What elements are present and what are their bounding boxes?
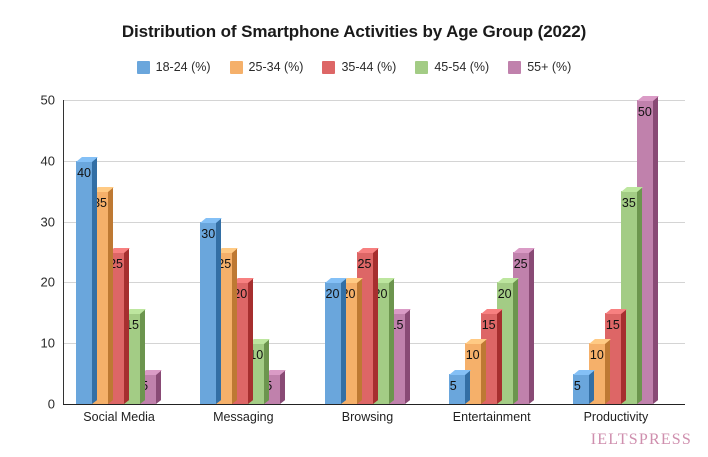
bar-side-face bbox=[653, 96, 658, 404]
bar[interactable]: 5 bbox=[449, 374, 465, 404]
bar-value-label: 25 bbox=[358, 257, 372, 271]
legend-item[interactable]: 55+ (%) bbox=[508, 60, 571, 74]
bar[interactable]: 20 bbox=[325, 282, 341, 404]
x-axis-group-label: Entertainment bbox=[453, 410, 531, 424]
bar-group: 510153550Productivity bbox=[573, 100, 659, 404]
legend-swatch-icon bbox=[137, 61, 150, 74]
bar-side-face bbox=[108, 187, 113, 404]
bar-value-label: 50 bbox=[638, 105, 652, 119]
bar[interactable]: 5 bbox=[573, 374, 589, 404]
legend-swatch-icon bbox=[415, 61, 428, 74]
bar-group: 403525155Social Media bbox=[76, 100, 162, 404]
bar-side-face bbox=[232, 248, 237, 404]
bar-side-face bbox=[481, 339, 486, 404]
legend-item-label: 18-24 (%) bbox=[156, 60, 211, 74]
legend-item[interactable]: 35-44 (%) bbox=[322, 60, 396, 74]
bar[interactable]: 30 bbox=[200, 222, 216, 404]
y-axis-tick-label: 0 bbox=[48, 397, 55, 412]
y-axis-tick-label: 30 bbox=[41, 214, 55, 229]
bar-side-face bbox=[248, 278, 253, 404]
bar-side-face bbox=[465, 370, 470, 404]
bar-side-face bbox=[529, 248, 534, 404]
bar-side-face bbox=[124, 248, 129, 404]
legend-item[interactable]: 45-54 (%) bbox=[415, 60, 489, 74]
x-axis-group-label: Social Media bbox=[83, 410, 155, 424]
bar-side-face bbox=[589, 370, 594, 404]
bar-side-face bbox=[264, 339, 269, 404]
bar-side-face bbox=[156, 370, 161, 404]
bar-side-face bbox=[216, 218, 221, 404]
bar-value-label: 25 bbox=[514, 257, 528, 271]
bar-side-face bbox=[280, 370, 285, 404]
bar-value-label: 15 bbox=[606, 318, 620, 332]
legend-item-label: 25-34 (%) bbox=[249, 60, 304, 74]
bar-chart: Distribution of Smartphone Activities by… bbox=[0, 0, 708, 457]
bar-side-face bbox=[341, 278, 346, 404]
bar-group: 302520105Messaging bbox=[200, 100, 286, 404]
legend-swatch-icon bbox=[230, 61, 243, 74]
legend-item[interactable]: 25-34 (%) bbox=[230, 60, 304, 74]
bar-side-face bbox=[513, 278, 518, 404]
bar-front-face bbox=[200, 222, 216, 404]
bar-side-face bbox=[605, 339, 610, 404]
bar-side-face bbox=[140, 309, 145, 404]
legend-swatch-icon bbox=[322, 61, 335, 74]
plot-area: 01020304050403525155Social Media30252010… bbox=[64, 100, 685, 404]
legend-item-label: 35-44 (%) bbox=[341, 60, 396, 74]
bar[interactable]: 40 bbox=[76, 161, 92, 404]
bar-side-face bbox=[497, 309, 502, 404]
bar-group: 510152025Entertainment bbox=[449, 100, 535, 404]
bar-value-label: 40 bbox=[77, 166, 91, 180]
bar-front-face bbox=[76, 161, 92, 404]
bar-side-face bbox=[357, 278, 362, 404]
bar-value-label: 30 bbox=[201, 227, 215, 241]
bar-side-face bbox=[405, 309, 410, 404]
legend-item-label: 55+ (%) bbox=[527, 60, 571, 74]
chart-title: Distribution of Smartphone Activities by… bbox=[0, 22, 708, 42]
y-axis-tick-label: 20 bbox=[41, 275, 55, 290]
legend-item[interactable]: 18-24 (%) bbox=[137, 60, 211, 74]
y-axis-tick-label: 40 bbox=[41, 153, 55, 168]
y-axis-line bbox=[63, 100, 64, 404]
bar-value-label: 20 bbox=[326, 287, 340, 301]
bar-side-face bbox=[373, 248, 378, 404]
bar-group: 2020252015Browsing bbox=[325, 100, 411, 404]
y-axis-tick-label: 50 bbox=[41, 93, 55, 108]
legend-item-label: 45-54 (%) bbox=[434, 60, 489, 74]
chart-legend: 18-24 (%)25-34 (%)35-44 (%)45-54 (%)55+ … bbox=[0, 60, 708, 74]
bar-value-label: 10 bbox=[590, 348, 604, 362]
watermark: IELTSPRESS bbox=[591, 431, 692, 449]
bar-side-face bbox=[92, 157, 97, 404]
x-axis-group-label: Messaging bbox=[213, 410, 273, 424]
bar-side-face bbox=[637, 187, 642, 404]
x-axis-group-label: Browsing bbox=[342, 410, 393, 424]
bar-side-face bbox=[621, 309, 626, 404]
x-axis-group-label: Productivity bbox=[584, 410, 649, 424]
legend-swatch-icon bbox=[508, 61, 521, 74]
bar-side-face bbox=[389, 278, 394, 404]
bar-value-label: 5 bbox=[450, 379, 457, 393]
bar-value-label: 15 bbox=[482, 318, 496, 332]
y-axis-tick-label: 10 bbox=[41, 336, 55, 351]
bar-value-label: 10 bbox=[466, 348, 480, 362]
bar-value-label: 35 bbox=[622, 196, 636, 210]
bar-value-label: 5 bbox=[574, 379, 581, 393]
bar-value-label: 20 bbox=[498, 287, 512, 301]
